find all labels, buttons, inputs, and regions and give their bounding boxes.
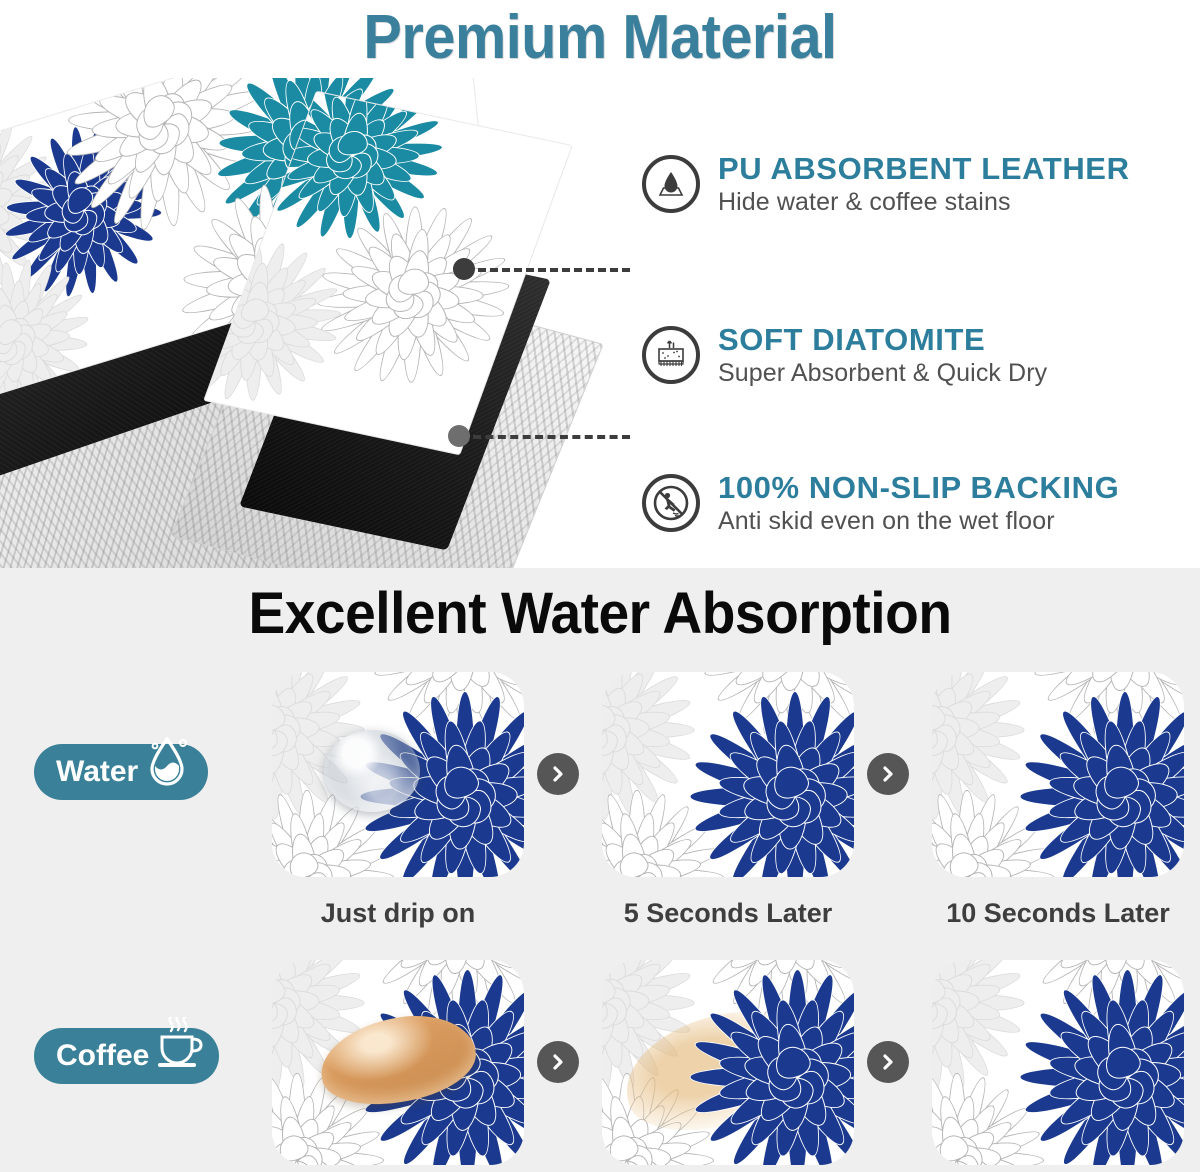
tile-image	[272, 960, 524, 1165]
mat-layer-stack	[0, 78, 630, 568]
badge-label: Water	[56, 755, 138, 789]
coffee-tile-1	[272, 960, 524, 1165]
caption-just-drip-on: Just drip on	[248, 898, 548, 929]
feature-subtitle: Hide water & coffee stains	[718, 188, 1130, 217]
dahlia-flower-blue	[1010, 682, 1184, 877]
feature-text-block: 100% NON-SLIP BACKING Anti skid even on …	[718, 470, 1119, 536]
section-title: Excellent Water Absorption	[30, 580, 1170, 647]
chevron-right-icon	[867, 753, 909, 795]
feature-non-slip-backing: 100% NON-SLIP BACKING Anti skid even on …	[642, 470, 1119, 536]
feature-subtitle: Super Absorbent & Quick Dry	[718, 359, 1047, 388]
tile-image	[602, 960, 854, 1165]
chevron-right-icon	[537, 753, 579, 795]
tile-image	[932, 672, 1184, 877]
feature-title: 100% NON-SLIP BACKING	[718, 470, 1119, 506]
feature-pu-absorbent-leather: PU ABSORBENT LEATHER Hide water & coffee…	[642, 151, 1130, 217]
product-photo	[0, 78, 630, 568]
feature-text-block: PU ABSORBENT LEATHER Hide water & coffee…	[718, 151, 1130, 217]
no-slipping-person-icon	[642, 474, 700, 532]
dahlia-flower-blue	[680, 682, 854, 877]
feature-title: PU ABSORBENT LEATHER	[718, 151, 1130, 187]
dahlia-flower-blue	[1010, 960, 1184, 1165]
row-badge-coffee: Coffee	[34, 1028, 219, 1084]
page-title: Premium Material	[42, 2, 1158, 73]
callout-line-leather	[478, 268, 630, 272]
callout-dot-leather	[453, 258, 475, 280]
caption-10-seconds: 10 Seconds Later	[908, 898, 1200, 929]
row-badge-water: Water	[34, 744, 208, 800]
coffee-cup-icon	[153, 1031, 203, 1081]
coffee-tile-2	[602, 960, 854, 1165]
absorbent-pad-icon	[642, 326, 700, 384]
water-tile-2	[602, 672, 854, 877]
feature-text-block: SOFT DIATOMITE Super Absorbent & Quick D…	[718, 322, 1047, 388]
feature-soft-diatomite: SOFT DIATOMITE Super Absorbent & Quick D…	[642, 322, 1047, 388]
coffee-tile-3	[932, 960, 1184, 1165]
tile-image	[932, 960, 1184, 1165]
water-absorption-section: Excellent Water Absorption Water	[0, 568, 1200, 1172]
caption-5-seconds: 5 Seconds Later	[578, 898, 878, 929]
infographic-page: Premium Material	[0, 0, 1200, 1172]
chevron-right-icon	[537, 1041, 579, 1083]
dahlia-flower-blue	[680, 960, 854, 1165]
water-tile-1	[272, 672, 524, 877]
water-droplet-icon	[142, 747, 192, 797]
chevron-right-icon	[867, 1041, 909, 1083]
tile-image	[272, 672, 524, 877]
water-droplet-on-mat	[324, 730, 420, 812]
premium-material-section: Premium Material	[0, 0, 1200, 568]
water-tile-3	[932, 672, 1184, 877]
tile-image	[602, 672, 854, 877]
feature-title: SOFT DIATOMITE	[718, 322, 1047, 358]
water-drop-on-mat-icon	[642, 155, 700, 213]
callout-line-diatomite	[473, 435, 630, 439]
callout-dot-diatomite	[448, 425, 470, 447]
feature-subtitle: Anti skid even on the wet floor	[718, 507, 1119, 536]
badge-label: Coffee	[56, 1039, 149, 1073]
